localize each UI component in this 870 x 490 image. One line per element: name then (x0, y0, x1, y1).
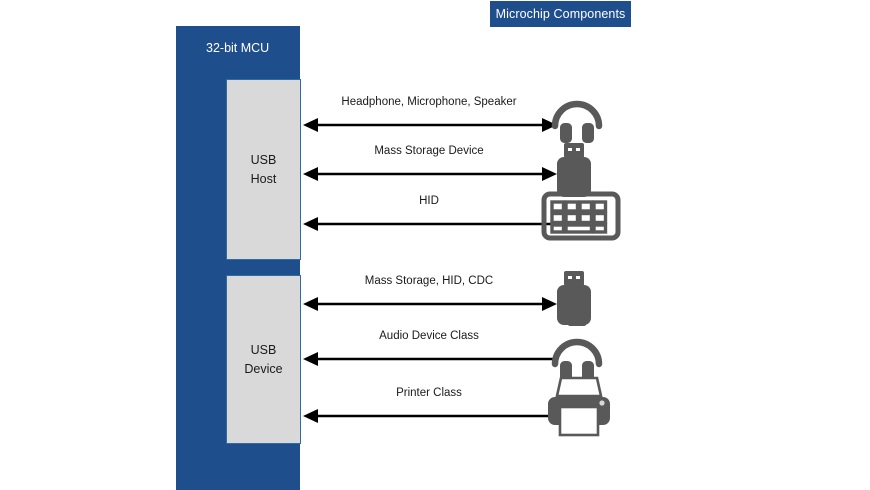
left-arrow-icon (301, 348, 559, 370)
header-badge: Microchip Components (490, 1, 631, 27)
left-arrow-icon (301, 405, 559, 427)
connection-label: Printer Class (301, 387, 557, 399)
connection-label: Mass Storage, HID, CDC (301, 275, 557, 287)
connection-label: Mass Storage Device (301, 145, 557, 157)
usb-flash-drive-icon (551, 269, 637, 329)
usb-host-label-line1: USB (251, 151, 277, 169)
connection-row-printer-class: Printer Class (301, 387, 631, 443)
connection-row-hid: HID (301, 195, 631, 251)
header-badge-label: Microchip Components (496, 7, 626, 21)
usb-host-label-line2: Host (251, 170, 277, 188)
connection-label: HID (301, 195, 557, 207)
headphone-icon (547, 322, 633, 382)
connection-label: Audio Device Class (301, 330, 557, 342)
left-arrow-icon (301, 213, 559, 235)
double-arrow-icon (301, 293, 559, 315)
connection-label: Headphone, Microphone, Speaker (301, 96, 557, 108)
usb-device-label-line2: Device (244, 360, 282, 378)
double-arrow-icon (301, 163, 559, 185)
usb-host-block: USB Host (226, 79, 301, 260)
usb-device-block: USB Device (226, 275, 301, 444)
keyboard-icon (542, 191, 628, 251)
diagram-canvas: Microchip Components 32-bit MCU USB Host… (0, 0, 870, 490)
printer-icon (544, 376, 630, 436)
double-arrow-icon (301, 114, 559, 136)
usb-device-label-line1: USB (251, 341, 277, 359)
mcu-title: 32-bit MCU (206, 41, 269, 55)
